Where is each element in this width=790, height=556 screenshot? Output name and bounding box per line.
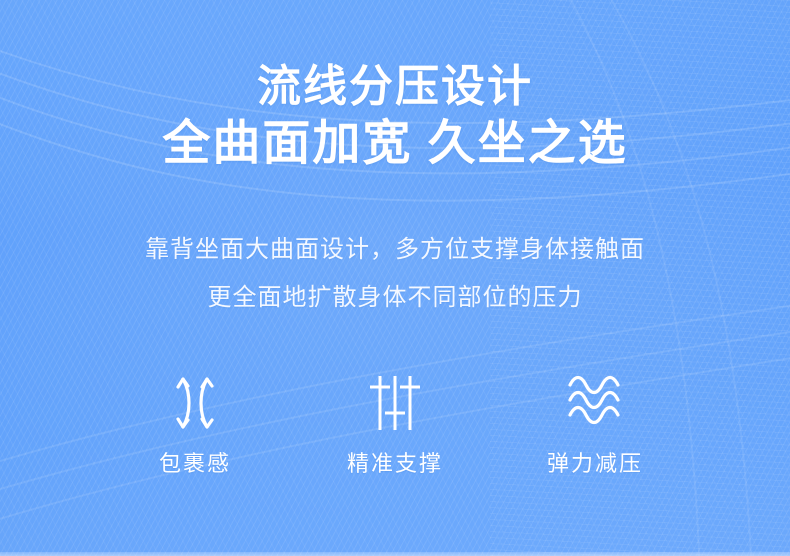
feature-list: 包裹感 精准支撑 bbox=[0, 372, 790, 478]
bottom-edge-highlight bbox=[0, 552, 790, 556]
feature-item: 精准支撑 bbox=[295, 372, 495, 478]
headline-line-2: 全曲面加宽 久坐之选 bbox=[0, 117, 790, 171]
headline-line-1: 流线分压设计 bbox=[0, 62, 790, 112]
subheadline-line-2: 更全面地扩散身体不同部位的压力 bbox=[0, 281, 790, 315]
feature-label: 弹力减压 bbox=[547, 446, 643, 478]
promo-banner: 流线分压设计 全曲面加宽 久坐之选 靠背坐面大曲面设计，多方位支撑身体接触面 更… bbox=[0, 0, 790, 556]
subheadline-line-1: 靠背坐面大曲面设计，多方位支撑身体接触面 bbox=[0, 233, 790, 267]
feature-label: 精准支撑 bbox=[347, 446, 443, 478]
vertical-sliders-icon bbox=[363, 372, 427, 434]
stacked-waves-icon bbox=[562, 372, 628, 434]
feature-item: 包裹感 bbox=[95, 372, 295, 478]
subheadline-block: 靠背坐面大曲面设计，多方位支撑身体接触面 更全面地扩散身体不同部位的压力 bbox=[0, 233, 790, 315]
feature-label: 包裹感 bbox=[159, 446, 231, 478]
banner-content: 流线分压设计 全曲面加宽 久坐之选 靠背坐面大曲面设计，多方位支撑身体接触面 更… bbox=[0, 0, 790, 556]
headline-block: 流线分压设计 全曲面加宽 久坐之选 bbox=[0, 62, 790, 171]
inward-arcs-icon bbox=[163, 372, 227, 434]
feature-item: 弹力减压 bbox=[495, 372, 695, 478]
